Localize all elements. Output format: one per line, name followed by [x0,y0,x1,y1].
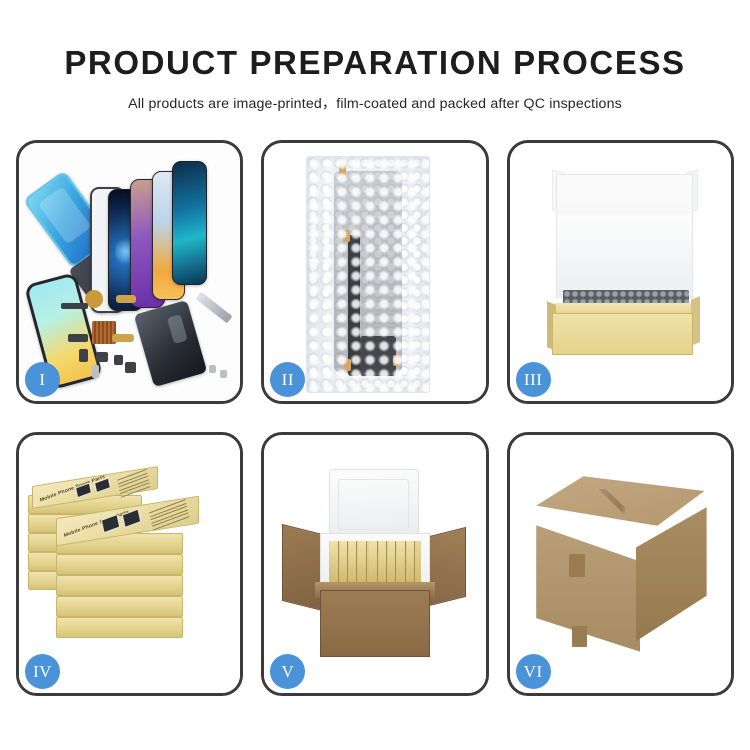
bubble-wrap-bag [306,156,430,393]
process-step-6[interactable]: VI [507,432,734,696]
repair-tweezers [195,292,232,324]
stacked-box-fr-2 [56,554,182,575]
component-block-2 [96,352,107,362]
adhesive-tab-top [339,164,346,176]
box-front-panel [552,313,694,354]
foam-box-lid [329,469,420,541]
step-2-image [264,143,485,401]
step-badge-1: I [25,362,60,397]
stacked-box-fr-4 [56,596,182,617]
page-title: PRODUCT PREPARATION PROCESS [0,44,750,82]
box-print-text-back [117,469,151,500]
carton-right-face [636,507,707,641]
carton-front-panel [320,590,431,657]
step-badge-6: VI [516,654,551,689]
process-step-grid: I II [16,140,734,696]
component-bar-2 [68,334,88,342]
phone-screen-teal [172,161,207,285]
packed-retail-boxes [329,541,422,587]
box-stack: Mobile Phone Spare Parts [28,461,232,673]
process-step-4[interactable]: Mobile Phone Spare Parts [16,432,243,696]
component-block-1 [79,349,88,362]
component-flex-cable-2 [112,334,134,342]
component-screw-1 [209,365,216,373]
step-6-image [510,435,731,693]
step-badge-4: IV [25,654,60,689]
component-bar-1 [61,303,88,309]
step-1-image [19,143,240,401]
wrapped-flex-strip [348,235,360,376]
stacked-box-fr-5 [56,617,182,638]
process-step-5[interactable]: V [261,432,488,696]
process-step-1[interactable]: I [16,140,243,404]
carton-tape-lower [572,626,587,647]
step-4-image: Mobile Phone Spare Parts [19,435,240,693]
header: PRODUCT PREPARATION PROCESS All products… [0,0,750,113]
component-screw-2 [220,370,227,378]
component-camera-module [125,362,136,372]
foam-sheet [558,215,691,298]
phone-back-housing [134,299,208,386]
process-step-3[interactable]: III [507,140,734,404]
stacked-box-fr-3 [56,575,182,596]
step-badge-3: III [516,362,551,397]
component-block-3 [114,355,123,365]
component-flex-cable-1 [116,295,136,303]
box-print-text-front [150,499,190,532]
step-3-image [510,143,731,401]
carton-tape-upper [569,554,584,577]
page-subtitle: All products are image-printed，film-coat… [0,93,750,113]
process-step-2[interactable]: II [261,140,488,404]
wrapped-connector-strip [360,336,397,376]
product-preparation-infographic: PRODUCT PREPARATION PROCESS All products… [0,0,750,750]
adhesive-tab-mid [343,230,350,242]
adhesive-tab-bottom-left [344,359,351,371]
component-sim-tray [92,365,99,378]
carton-left-face [536,523,640,652]
step-5-image [264,435,485,693]
adhesive-tab-bottom-right [393,355,400,367]
